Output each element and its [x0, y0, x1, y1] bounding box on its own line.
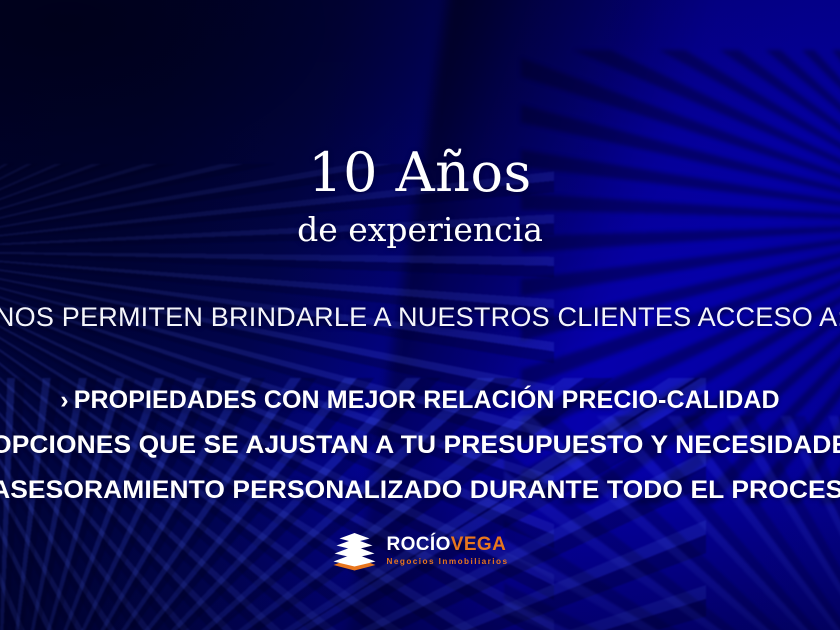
list-item: ›OPCIONES QUE SE AJUSTAN A TU PRESUPUEST… — [0, 423, 840, 468]
headline-block: 10 Años de experiencia — [0, 146, 840, 246]
headline-subtitle: de experiencia — [0, 213, 840, 246]
list-item-label: OPCIONES QUE SE AJUSTAN A TU PRESUPUESTO… — [0, 431, 840, 459]
chevron-right-icon: › — [60, 378, 68, 423]
brand-name-first: ROCÍO — [387, 534, 451, 555]
brand-tagline: Negocios Inmobiliarios — [387, 558, 509, 566]
headline-years: 10 Años — [0, 146, 840, 200]
list-item: ›ASESORAMIENTO PERSONALIZADO DURANTE TOD… — [0, 468, 840, 513]
brand-name: ROCÍOVEGA — [387, 535, 509, 554]
brand-logo: ROCÍOVEGA Negocios Inmobiliarios — [332, 531, 509, 571]
list-item: ›PROPIEDADES CON MEJOR RELACIÓN PRECIO-C… — [0, 378, 840, 423]
roof-emblem-icon — [332, 531, 378, 571]
brand-logo-text: ROCÍOVEGA Negocios Inmobiliarios — [387, 535, 509, 566]
lead-statement: NOS PERMITEN BRINDARLE A NUESTROS CLIENT… — [0, 302, 840, 333]
promotional-slide: 10 Años de experiencia NOS PERMITEN BRIN… — [0, 0, 840, 630]
benefits-list: ›PROPIEDADES CON MEJOR RELACIÓN PRECIO-C… — [0, 378, 840, 513]
brand-name-second: VEGA — [451, 534, 506, 555]
list-item-label: ASESORAMIENTO PERSONALIZADO DURANTE TODO… — [0, 476, 840, 504]
list-item-label: PROPIEDADES CON MEJOR RELACIÓN PRECIO-CA… — [74, 386, 780, 414]
slide-content: 10 Años de experiencia NOS PERMITEN BRIN… — [0, 0, 840, 630]
